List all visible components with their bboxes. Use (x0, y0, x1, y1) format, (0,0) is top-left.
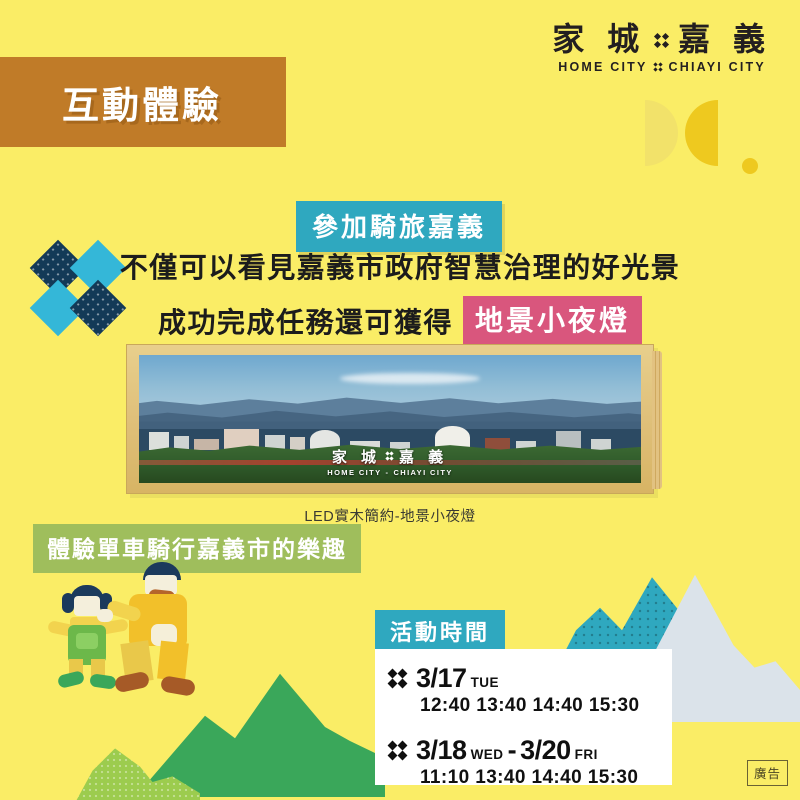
photo-logo-cn-right: 嘉 義 (399, 446, 448, 467)
schedule-times: 11:10 13:40 14:40 15:30 (420, 767, 656, 789)
quad-diamond-bullet-icon (389, 741, 407, 761)
dot-decoration (742, 158, 758, 174)
child-shoe-left (57, 670, 85, 689)
main-copy: 不僅可以看見嘉義市政府智慧治理的好光景 成功完成任務還可獲得 地景小夜燈 (0, 246, 800, 345)
copy-line-2-prefix: 成功完成任務還可獲得 (158, 301, 453, 341)
prize-pill: 地景小夜燈 (463, 296, 642, 345)
half-circle-decoration-light (645, 100, 678, 166)
copy-line-1: 不僅可以看見嘉義市政府智慧治理的好光景 (0, 246, 800, 286)
photo-logo-en-left: HOME CITY (327, 468, 381, 477)
quad-diamond-icon-small (654, 62, 663, 72)
half-circle-decoration-gold (685, 100, 718, 166)
banner-title: 互動體驗 (62, 75, 222, 129)
schedule-badge: 活動時間 (375, 610, 505, 654)
join-ride-badge: 參加騎旅嘉義 (296, 201, 502, 252)
photo-logo-overlay: 家 城 嘉 義 HOME CITY - CHIAYI CITY (139, 446, 641, 477)
schedule-entry: 3/18 WED - 3/20 FRI 11:10 13:40 14:40 15… (389, 735, 656, 789)
schedule-date-text: 3/18 WED - 3/20 FRI (416, 735, 598, 766)
adult-pants-right (157, 641, 189, 682)
schedule-spacer (389, 723, 656, 735)
schedule-date-end: 3/20 (520, 735, 571, 766)
cityscape-photo: 家 城 嘉 義 HOME CITY - CHIAYI CITY (139, 355, 641, 483)
schedule-date: 3/18 (416, 735, 467, 766)
child-pocket (76, 633, 98, 649)
brand-logo: 家 城 嘉 義 HOME CITY CHIAYI CITY (552, 22, 772, 74)
logo-chinese: 家 城 嘉 義 (552, 22, 772, 58)
product-caption: LED實木簡約-地景小夜燈 (126, 505, 654, 526)
schedule-times: 12:40 13:40 14:40 15:30 (420, 695, 656, 717)
photo-logo-chinese: 家 城 嘉 義 (139, 446, 641, 467)
logo-cn-left: 家 城 (552, 22, 646, 58)
schedule-entry: 3/17 TUE 12:40 13:40 14:40 15:30 (389, 663, 656, 717)
photo-logo-en-dash: - (386, 468, 390, 477)
adult-illustration (115, 562, 215, 697)
frame-wood-edge (652, 351, 662, 489)
child-shoe-right (89, 673, 117, 689)
schedule-dow-end: FRI (575, 747, 598, 762)
logo-cn-right: 嘉 義 (678, 22, 772, 58)
copy-line-2: 成功完成任務還可獲得 地景小夜燈 (0, 296, 800, 345)
ad-label: 廣告 (747, 760, 788, 786)
child-hair-left (62, 593, 74, 613)
quad-diamond-icon-photo (386, 451, 394, 461)
logo-en-right: CHIAYI CITY (669, 60, 766, 74)
product-frame: 家 城 嘉 義 HOME CITY - CHIAYI CITY (126, 344, 654, 494)
section-banner: 互動體驗 (0, 57, 286, 147)
adult-hand (97, 609, 113, 622)
photo-logo-english: HOME CITY - CHIAYI CITY (139, 468, 641, 477)
poster-canvas: 家 城 嘉 義 HOME CITY CHIAYI CITY 互動體驗 (0, 0, 800, 800)
schedule-date-text: 3/17 TUE (416, 663, 499, 694)
schedule-date-row: 3/18 WED - 3/20 FRI (389, 735, 656, 766)
schedule-dow: TUE (471, 675, 500, 690)
schedule-date-row: 3/17 TUE (389, 663, 656, 694)
schedule-dow: WED (471, 747, 504, 762)
schedule-box: 3/17 TUE 12:40 13:40 14:40 15:30 3/18 WE… (375, 649, 672, 785)
logo-english: HOME CITY CHIAYI CITY (552, 60, 772, 74)
photo-logo-en-right: CHIAYI CITY (393, 468, 452, 477)
logo-en-left: HOME CITY (558, 60, 647, 74)
photo-logo-cn-left: 家 城 (332, 446, 381, 467)
adult-shoe-left (114, 671, 151, 694)
schedule-date: 3/17 (416, 663, 467, 694)
quad-diamond-bullet-icon (389, 669, 407, 689)
adult-shoe-right (160, 675, 196, 697)
quad-diamond-icon (655, 32, 669, 48)
schedule-date-separator: - (508, 735, 517, 766)
